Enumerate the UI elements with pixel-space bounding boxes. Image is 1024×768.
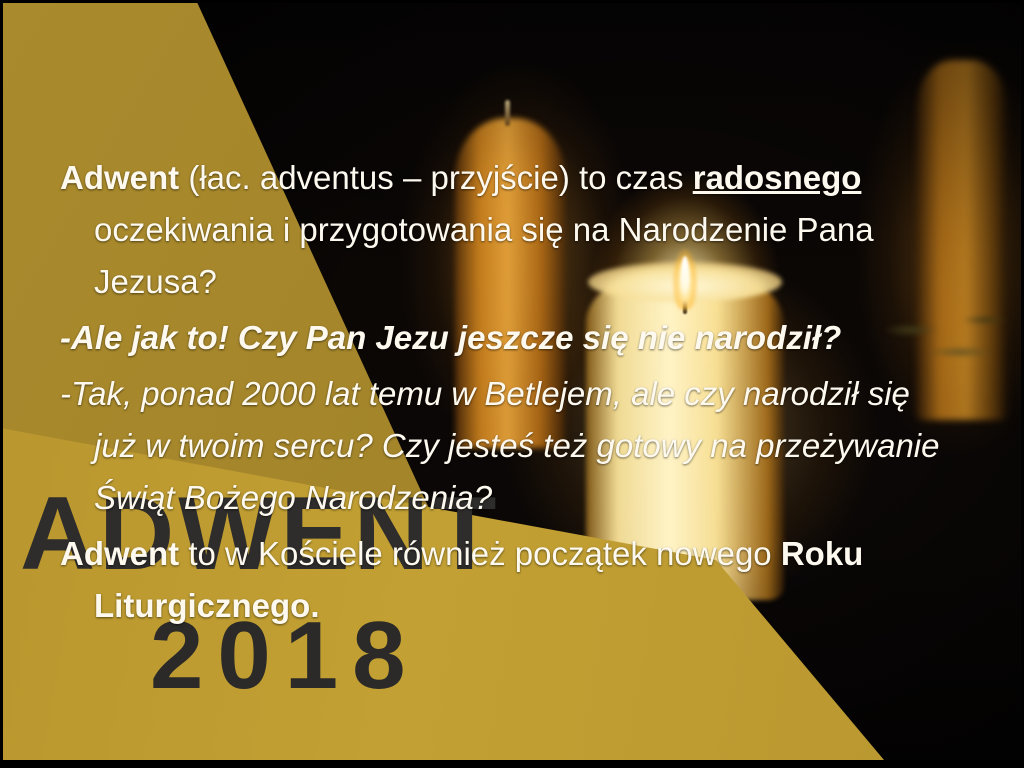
keyword-adwent-2: Adwent — [60, 535, 179, 572]
paragraph-liturgical-year-part1: to w Kościele również początek nowego — [179, 535, 781, 572]
bottom-black-band — [0, 760, 1024, 768]
slide-body-text: Adwent (łac. adventus – przyjście) to cz… — [54, 152, 960, 636]
paragraph-definition: Adwent (łac. adventus – przyjście) to cz… — [54, 152, 960, 308]
paragraph-question-text: -Ale jak to! Czy Pan Jezu jeszcze się ni… — [60, 319, 841, 356]
keyword-radosnego: radosnego — [693, 159, 862, 196]
keyword-adwent-1: Adwent — [60, 159, 179, 196]
paragraph-definition-part2: oczekiwania i przygotowania się na Narod… — [94, 211, 874, 300]
paragraph-question: -Ale jak to! Czy Pan Jezu jeszcze się ni… — [54, 312, 960, 364]
paragraph-liturgical-year: Adwent to w Kościele również początek no… — [54, 528, 960, 632]
paragraph-answer-text: -Tak, ponad 2000 lat temu w Betlejem, al… — [60, 375, 940, 516]
paragraph-definition-part1: (łac. adventus – przyjście) to czas — [179, 159, 693, 196]
paragraph-answer: -Tak, ponad 2000 lat temu w Betlejem, al… — [54, 368, 960, 524]
presentation-slide: ADWENT 2018 Adwent (łac. adventus – przy… — [0, 0, 1024, 768]
